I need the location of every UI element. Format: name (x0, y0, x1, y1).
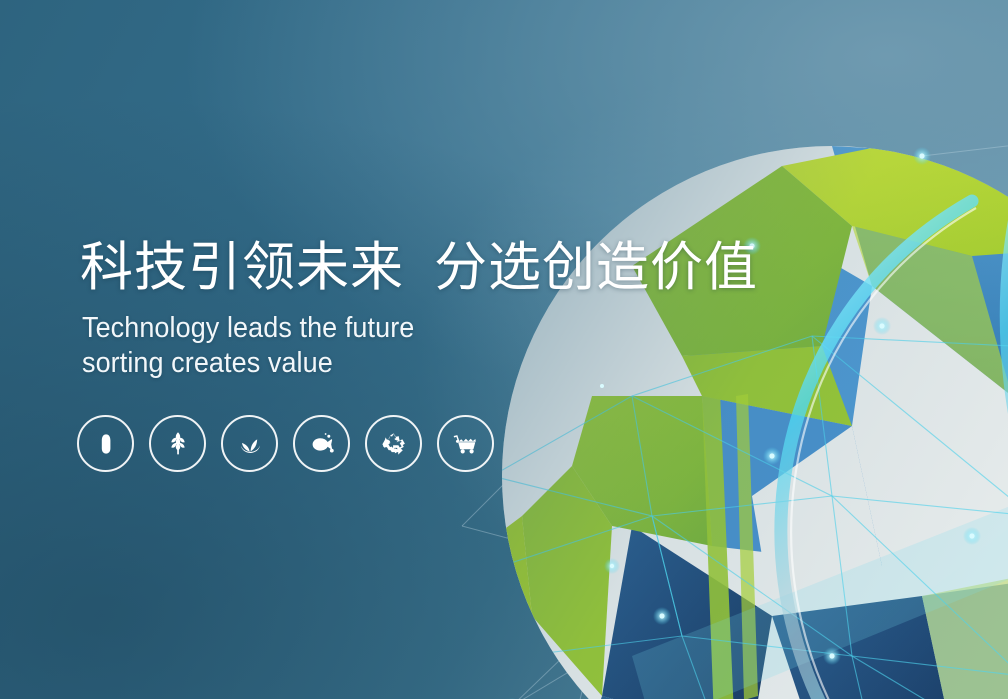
rice-grain-icon[interactable] (77, 415, 134, 472)
leaf-icon[interactable] (221, 415, 278, 472)
subtitle-line-2: sorting creates value (82, 346, 711, 380)
hero-banner: 科技引领未来分选创造价值 Technology leads the future… (0, 0, 1008, 699)
mining-cart-icon[interactable] (437, 415, 494, 472)
industry-icon-row (77, 415, 494, 472)
wheat-icon[interactable] (149, 415, 206, 472)
headline-cn-left: 科技引领未来 (80, 238, 404, 297)
subtitle: Technology leads the future sorting crea… (82, 311, 711, 379)
headline-block: 科技引领未来分选创造价值 Technology leads the future… (80, 238, 758, 380)
page-title: 科技引领未来分选创造价值 (80, 238, 758, 297)
subtitle-line-1: Technology leads the future (82, 311, 711, 345)
fish-icon[interactable] (293, 415, 350, 472)
headline-cn-right: 分选创造价值 (434, 238, 758, 297)
recycle-icon[interactable] (365, 415, 422, 472)
